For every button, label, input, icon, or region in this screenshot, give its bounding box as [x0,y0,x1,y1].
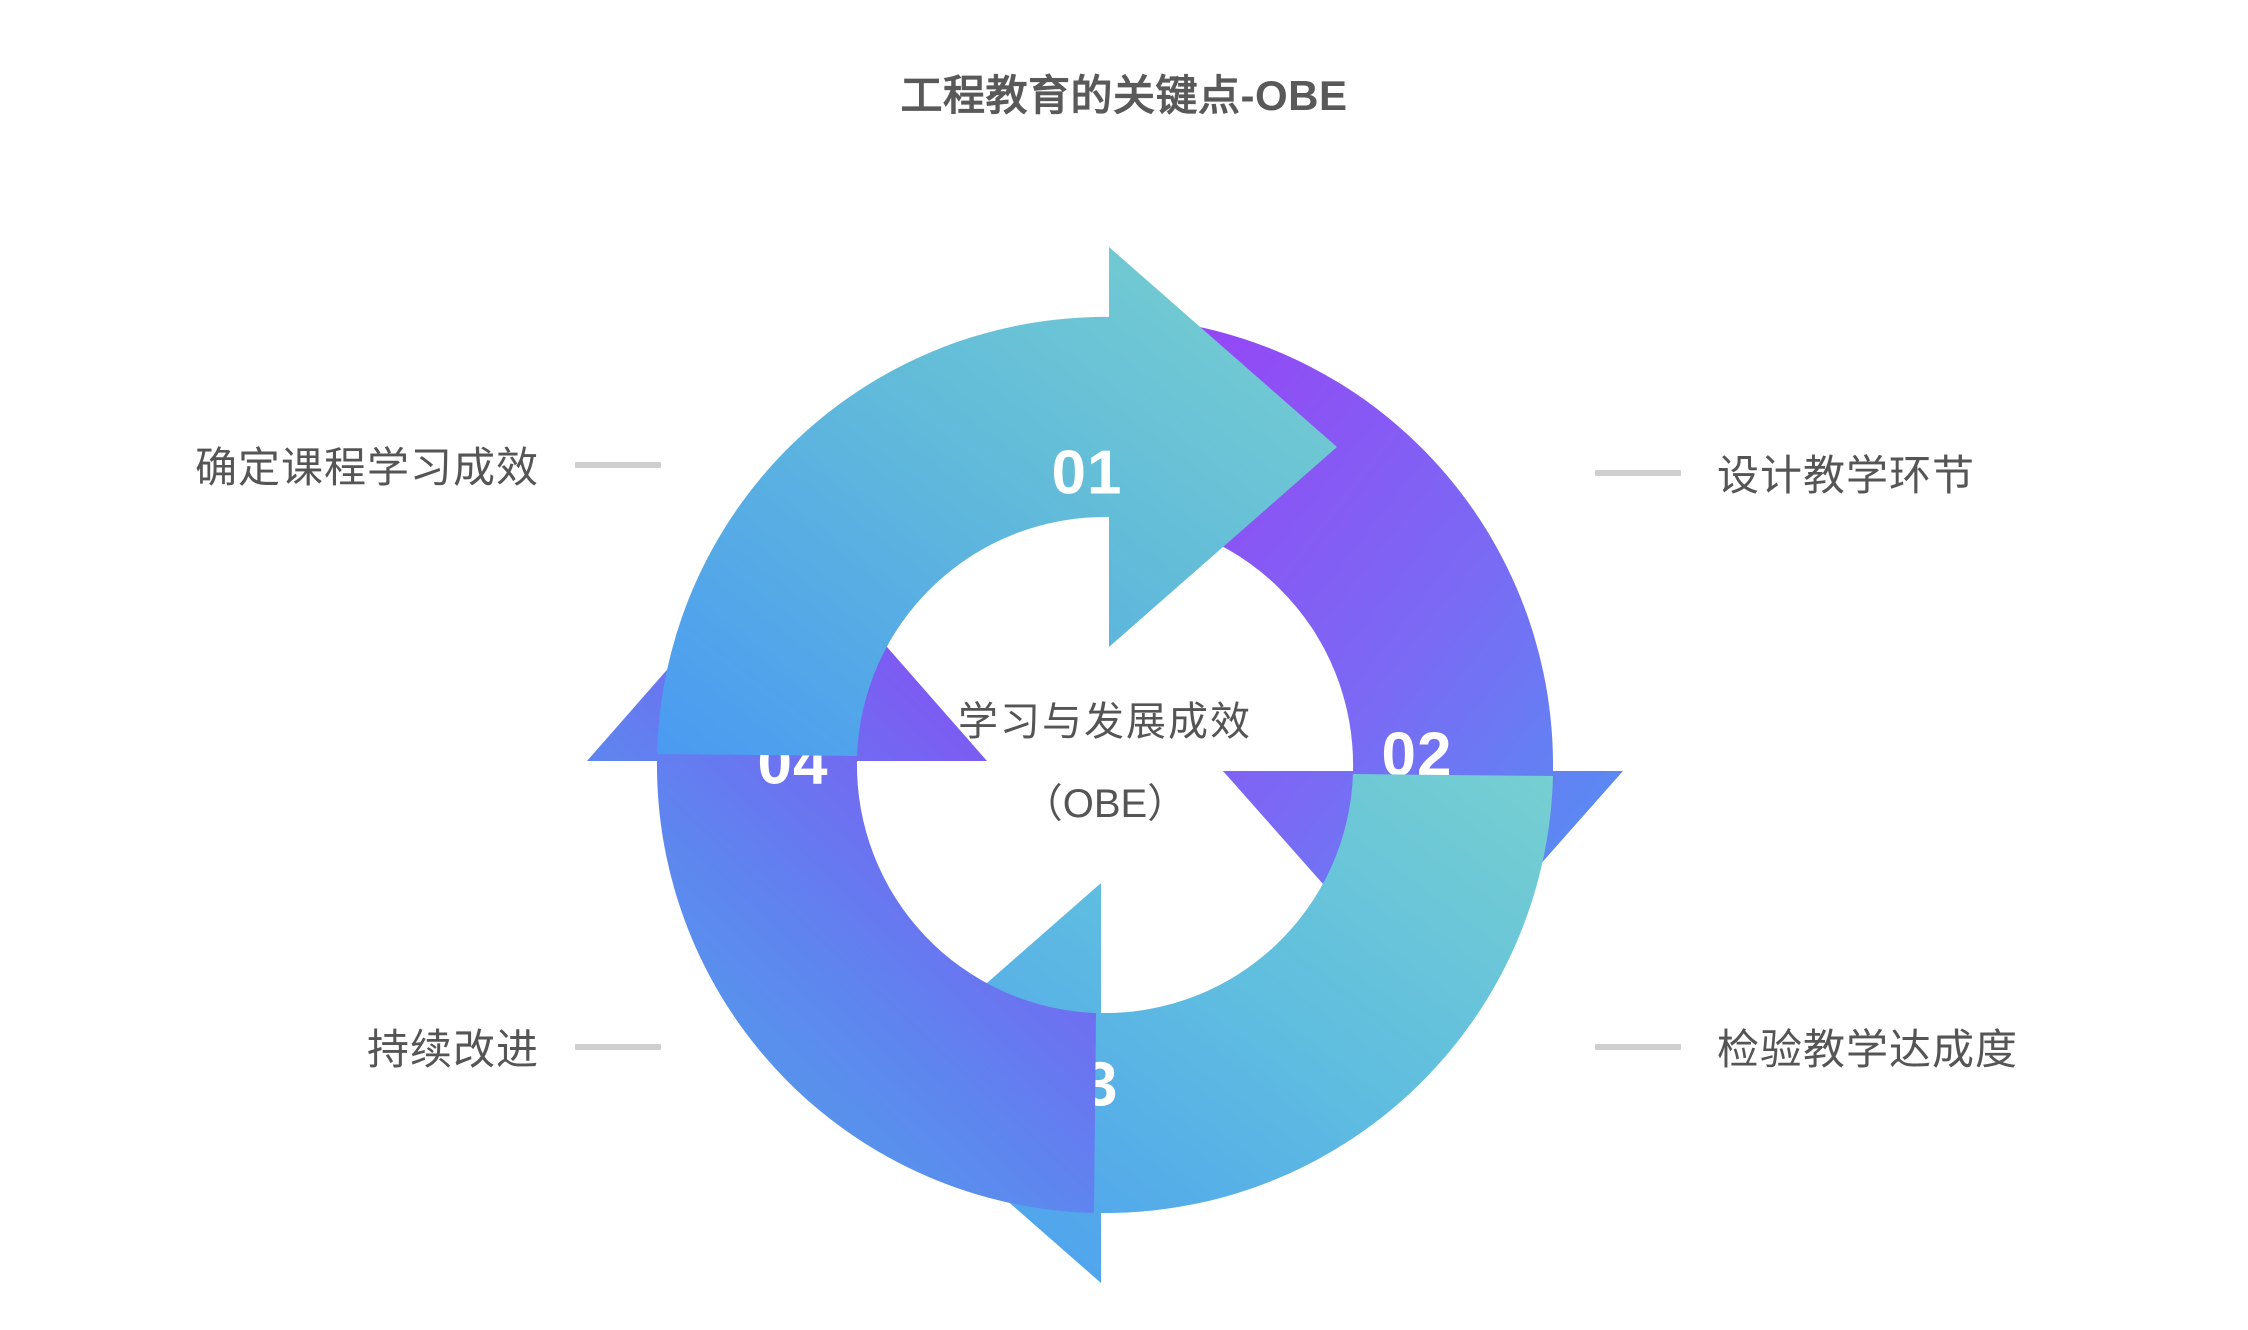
callout-step-03[interactable]: 检验教学达成度 [1595,1016,2018,1077]
callout-dash-icon [575,462,661,468]
callout-step-04-label: 持续改进 [367,1016,539,1077]
callout-dash-icon [575,1044,661,1050]
page-title: 工程教育的关键点-OBE [0,62,2248,123]
callout-step-01-label: 确定课程学习成效 [195,434,539,495]
callout-step-04[interactable]: 持续改进 [367,1016,661,1077]
segment-01-number: 01 [1052,439,1123,508]
obe-cycle-wheel: 02 03 04 01 [0,0,2248,1330]
diagram-root: 工程教育的关键点-OBE [0,0,2248,1330]
callout-dash-icon [1595,470,1681,476]
callout-step-02-label: 设计教学环节 [1717,442,1975,503]
callout-step-03-label: 检验教学达成度 [1717,1016,2018,1077]
callout-step-01[interactable]: 确定课程学习成效 [195,434,661,495]
callout-step-02[interactable]: 设计教学环节 [1595,442,1975,503]
callout-dash-icon [1595,1044,1681,1050]
segment-01-shape [657,247,1337,756]
cycle-segment-01[interactable]: 01 [657,247,1337,756]
